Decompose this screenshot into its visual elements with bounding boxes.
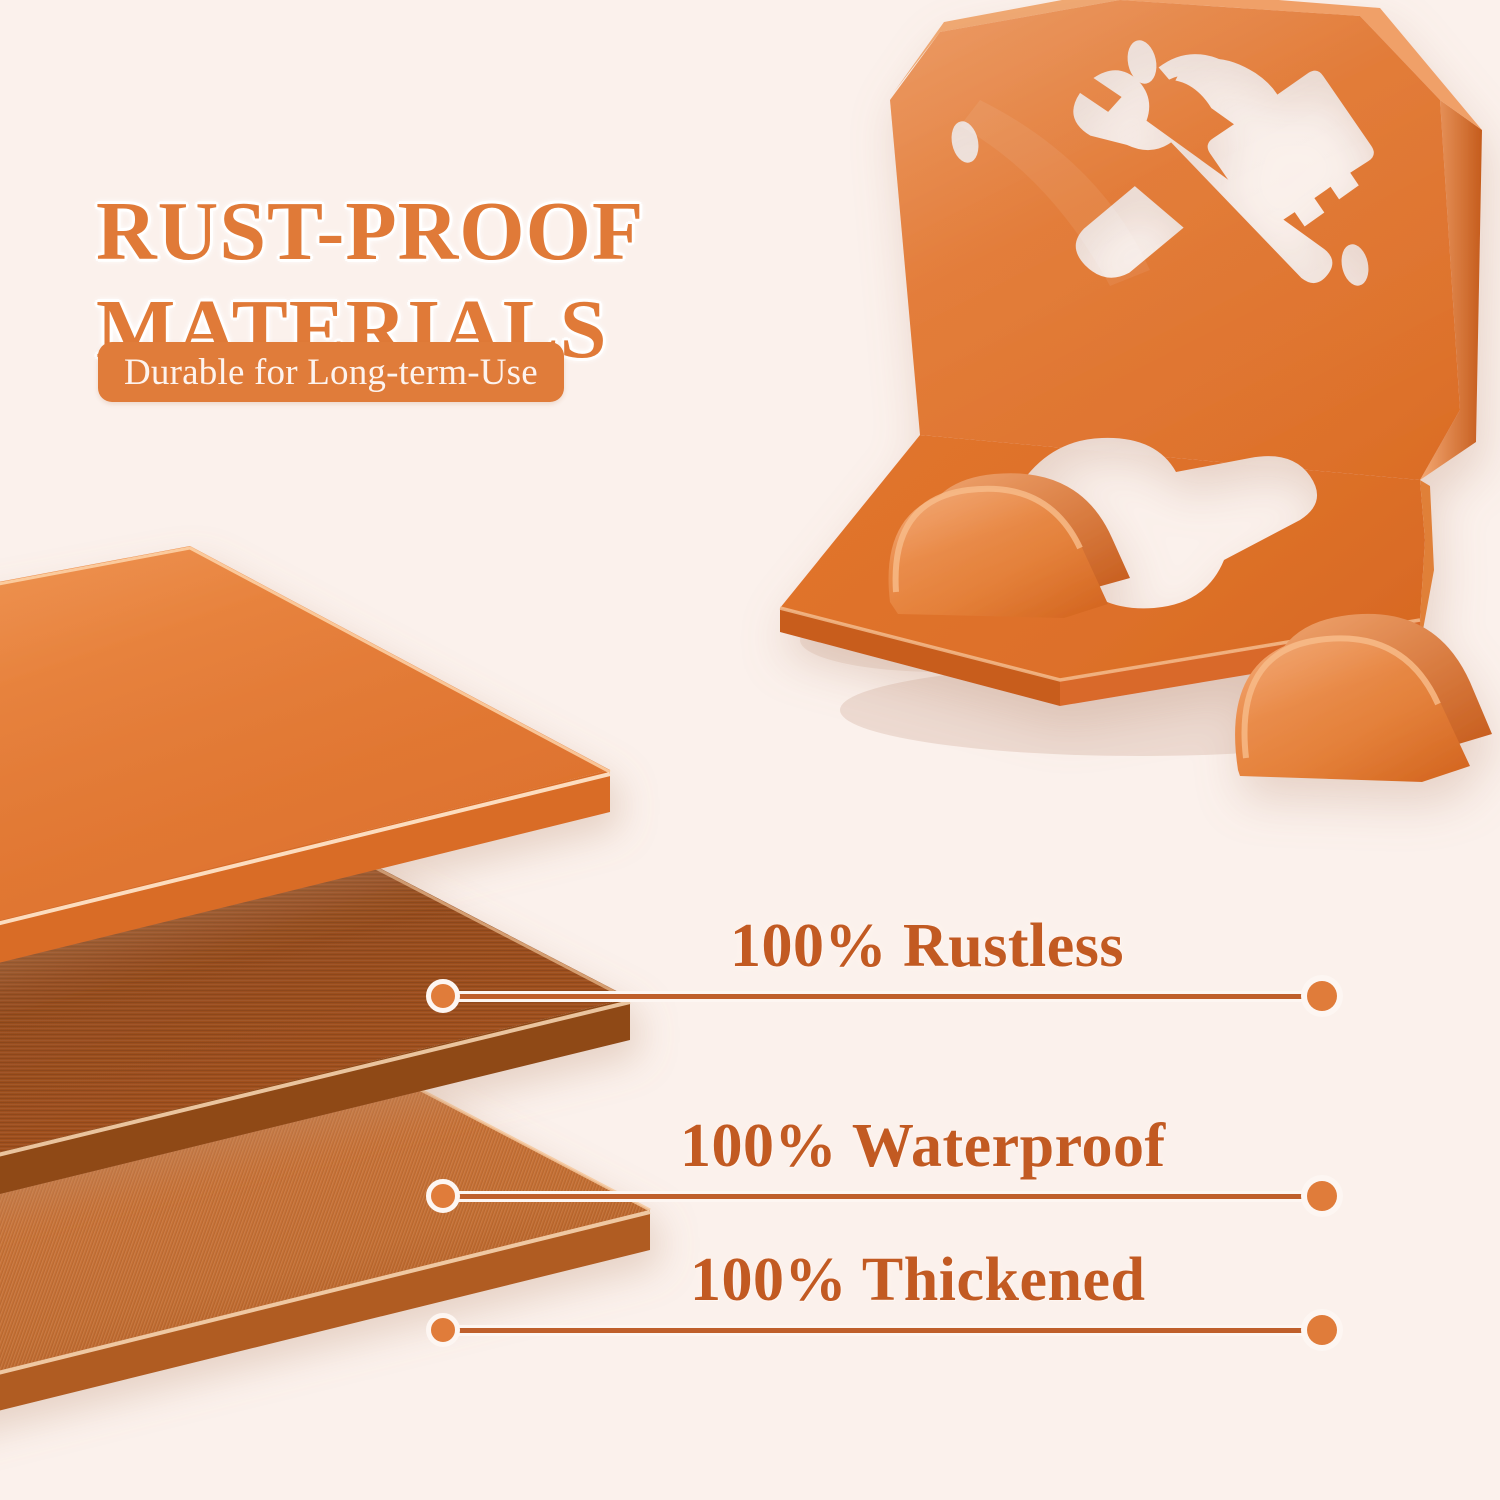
product-feature-graphic: RUST-PROOF MATERIALS Durable for Long-te…	[0, 0, 1500, 1500]
headline-line-1: RUST-PROOF	[96, 185, 644, 278]
callout-anchor-dot	[426, 1179, 460, 1213]
callout-line	[443, 994, 1322, 999]
callout-end-dot	[1307, 1315, 1337, 1345]
page-title: RUST-PROOF MATERIALS	[96, 86, 856, 476]
callout-end-dot	[1307, 981, 1337, 1011]
callout-line	[443, 1328, 1322, 1333]
callout-label: 100% Waterproof	[680, 1111, 1166, 1182]
callout-label: 100% Rustless	[730, 911, 1124, 982]
callout-label: 100% Thickened	[690, 1245, 1145, 1316]
callout-line	[443, 1194, 1322, 1199]
callout-anchor-dot	[426, 979, 460, 1013]
subtitle-badge: Durable for Long-term-Use	[98, 342, 564, 402]
callout-anchor-dot	[426, 1313, 460, 1347]
callout-end-dot	[1307, 1181, 1337, 1211]
subtitle-badge-label: Durable for Long-term-Use	[124, 351, 538, 394]
